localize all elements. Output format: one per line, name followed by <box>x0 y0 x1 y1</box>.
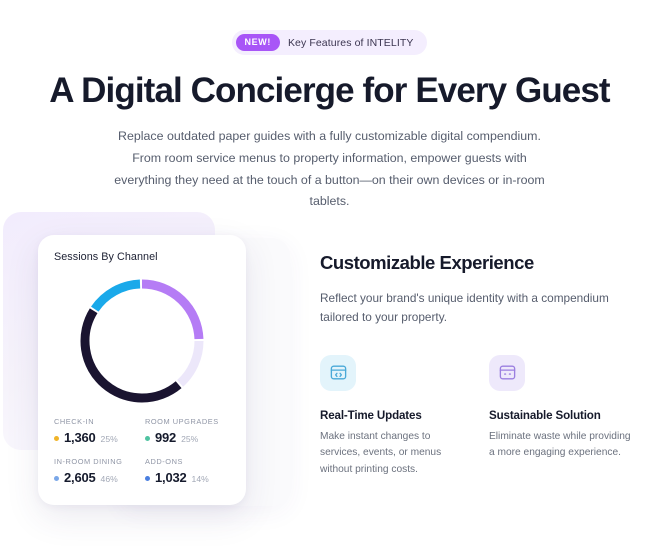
legend-item-label: IN-ROOM DINING <box>54 457 139 466</box>
legend-item-label: ADD-ONS <box>145 457 230 466</box>
hero-section: NEW! Key Features of INTELITY A Digital … <box>0 0 659 213</box>
chart-legend: CHECK-IN1,36025%ROOM UPGRADES99225%IN-RO… <box>54 417 230 485</box>
legend-item-value: 992 <box>155 430 176 445</box>
page-title: A Digital Concierge for Every Guest <box>0 71 659 110</box>
feature-badge: NEW! Key Features of INTELITY <box>232 30 428 55</box>
donut-segment <box>142 284 199 339</box>
legend-color-dot <box>145 436 150 441</box>
legend-item-label: ROOM UPGRADES <box>145 417 230 426</box>
legend-item: ROOM UPGRADES99225% <box>145 417 230 445</box>
legend-item: CHECK-IN1,36025% <box>54 417 139 445</box>
feature-description: Eliminate waste while providing a more e… <box>489 429 636 462</box>
feature-title: Real-Time Updates <box>320 409 467 422</box>
legend-color-dot <box>54 436 59 441</box>
donut-segment <box>180 341 199 383</box>
legend-item-percent: 46% <box>101 474 118 484</box>
donut-segment <box>85 311 179 398</box>
legend-item-row: 1,03214% <box>145 470 230 485</box>
legend-item-value: 1,032 <box>155 470 187 485</box>
app-window-icon <box>489 355 525 391</box>
legend-item-percent: 25% <box>101 434 118 444</box>
stat-card-title: Sessions By Channel <box>54 251 230 263</box>
code-window-icon <box>320 355 356 391</box>
right-column: Customizable Experience Reflect your bra… <box>320 252 640 478</box>
legend-item-row: 99225% <box>145 430 230 445</box>
section-description: Reflect your brand's unique identity wit… <box>320 289 625 327</box>
legend-color-dot <box>145 476 150 481</box>
donut-segment <box>95 284 140 309</box>
legend-item-row: 1,36025% <box>54 430 139 445</box>
legend-item-percent: 25% <box>181 434 198 444</box>
feature-description: Make instant changes to services, events… <box>320 429 467 479</box>
legend-color-dot <box>54 476 59 481</box>
section-title: Customizable Experience <box>320 252 640 274</box>
donut-chart-svg <box>72 271 212 411</box>
legend-item-row: 2,60546% <box>54 470 139 485</box>
donut-chart <box>54 271 230 411</box>
legend-item: IN-ROOM DINING2,60546% <box>54 457 139 485</box>
feature-title: Sustainable Solution <box>489 409 636 422</box>
badge-new-tag: NEW! <box>236 34 280 51</box>
features-section: Sessions By Channel CHECK-IN1,36025%ROOM… <box>0 196 659 546</box>
legend-item-value: 2,605 <box>64 470 96 485</box>
legend-item-label: CHECK-IN <box>54 417 139 426</box>
feature-list: Real-Time Updates Make instant changes t… <box>320 355 640 479</box>
legend-item-value: 1,360 <box>64 430 96 445</box>
sessions-stat-card: Sessions By Channel CHECK-IN1,36025%ROOM… <box>38 235 246 505</box>
badge-label: Key Features of INTELITY <box>288 37 414 49</box>
legend-item: ADD-ONS1,03214% <box>145 457 230 485</box>
feature-item-sustainable-solution: Sustainable Solution Eliminate waste whi… <box>489 355 636 479</box>
feature-item-real-time-updates: Real-Time Updates Make instant changes t… <box>320 355 467 479</box>
legend-item-percent: 14% <box>192 474 209 484</box>
